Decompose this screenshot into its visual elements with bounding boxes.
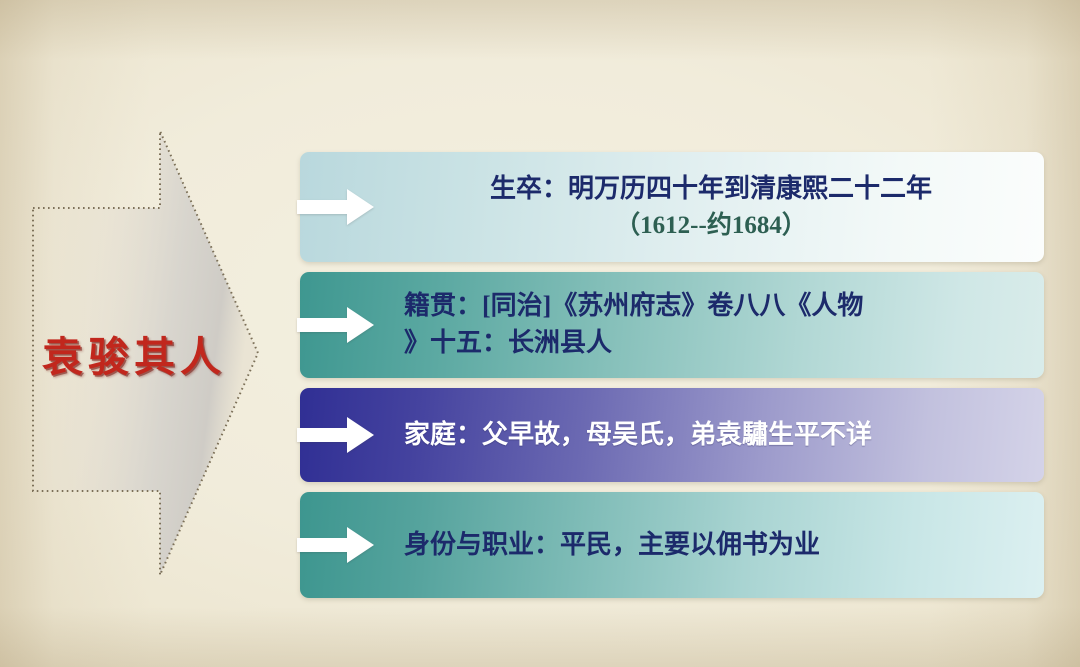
right-arrow-icon	[297, 187, 375, 227]
info-line: （1612--约1684）	[404, 208, 1034, 244]
block-arrow-shape	[18, 118, 286, 588]
info-row-text: 家庭：父早故，母吴氏，弟袁驌生平不详	[404, 388, 1034, 482]
info-rows-container: 生卒：明万历四十年到清康熙二十二年 （1612--约1684） 籍贯：[同治]《…	[300, 0, 1044, 667]
info-line: 生卒：明万历四十年到清康熙二十二年	[404, 171, 1034, 208]
info-row-text: 身份与职业：平民，主要以佣书为业	[404, 492, 1034, 598]
block-arrow-outline	[33, 131, 258, 575]
info-line: 籍贯：[同治]《苏州府志》卷八八《人物	[404, 288, 1034, 325]
info-line: 身份与职业：平民，主要以佣书为业	[404, 527, 1034, 564]
info-row-identity-occupation[interactable]: 身份与职业：平民，主要以佣书为业	[300, 492, 1044, 598]
info-row-text: 籍贯：[同治]《苏州府志》卷八八《人物 》十五：长洲县人	[404, 272, 1034, 378]
info-line: 家庭：父早故，母吴氏，弟袁驌生平不详	[404, 417, 1034, 454]
right-arrow-icon	[297, 415, 375, 455]
info-row-family[interactable]: 家庭：父早故，母吴氏，弟袁驌生平不详	[300, 388, 1044, 482]
slide-canvas: 袁骏其人 生卒：明万历四十年到清康熙二十二年 （1612--约1684）	[0, 0, 1080, 667]
info-row-native-place[interactable]: 籍贯：[同治]《苏州府志》卷八八《人物 》十五：长洲县人	[300, 272, 1044, 378]
info-row-text: 生卒：明万历四十年到清康熙二十二年 （1612--约1684）	[404, 152, 1034, 262]
info-row-birth-death[interactable]: 生卒：明万历四十年到清康熙二十二年 （1612--约1684）	[300, 152, 1044, 262]
right-arrow-icon	[297, 525, 375, 565]
info-line: 》十五：长洲县人	[404, 325, 1034, 362]
right-arrow-icon	[297, 305, 375, 345]
left-block-arrow: 袁骏其人	[18, 118, 286, 588]
